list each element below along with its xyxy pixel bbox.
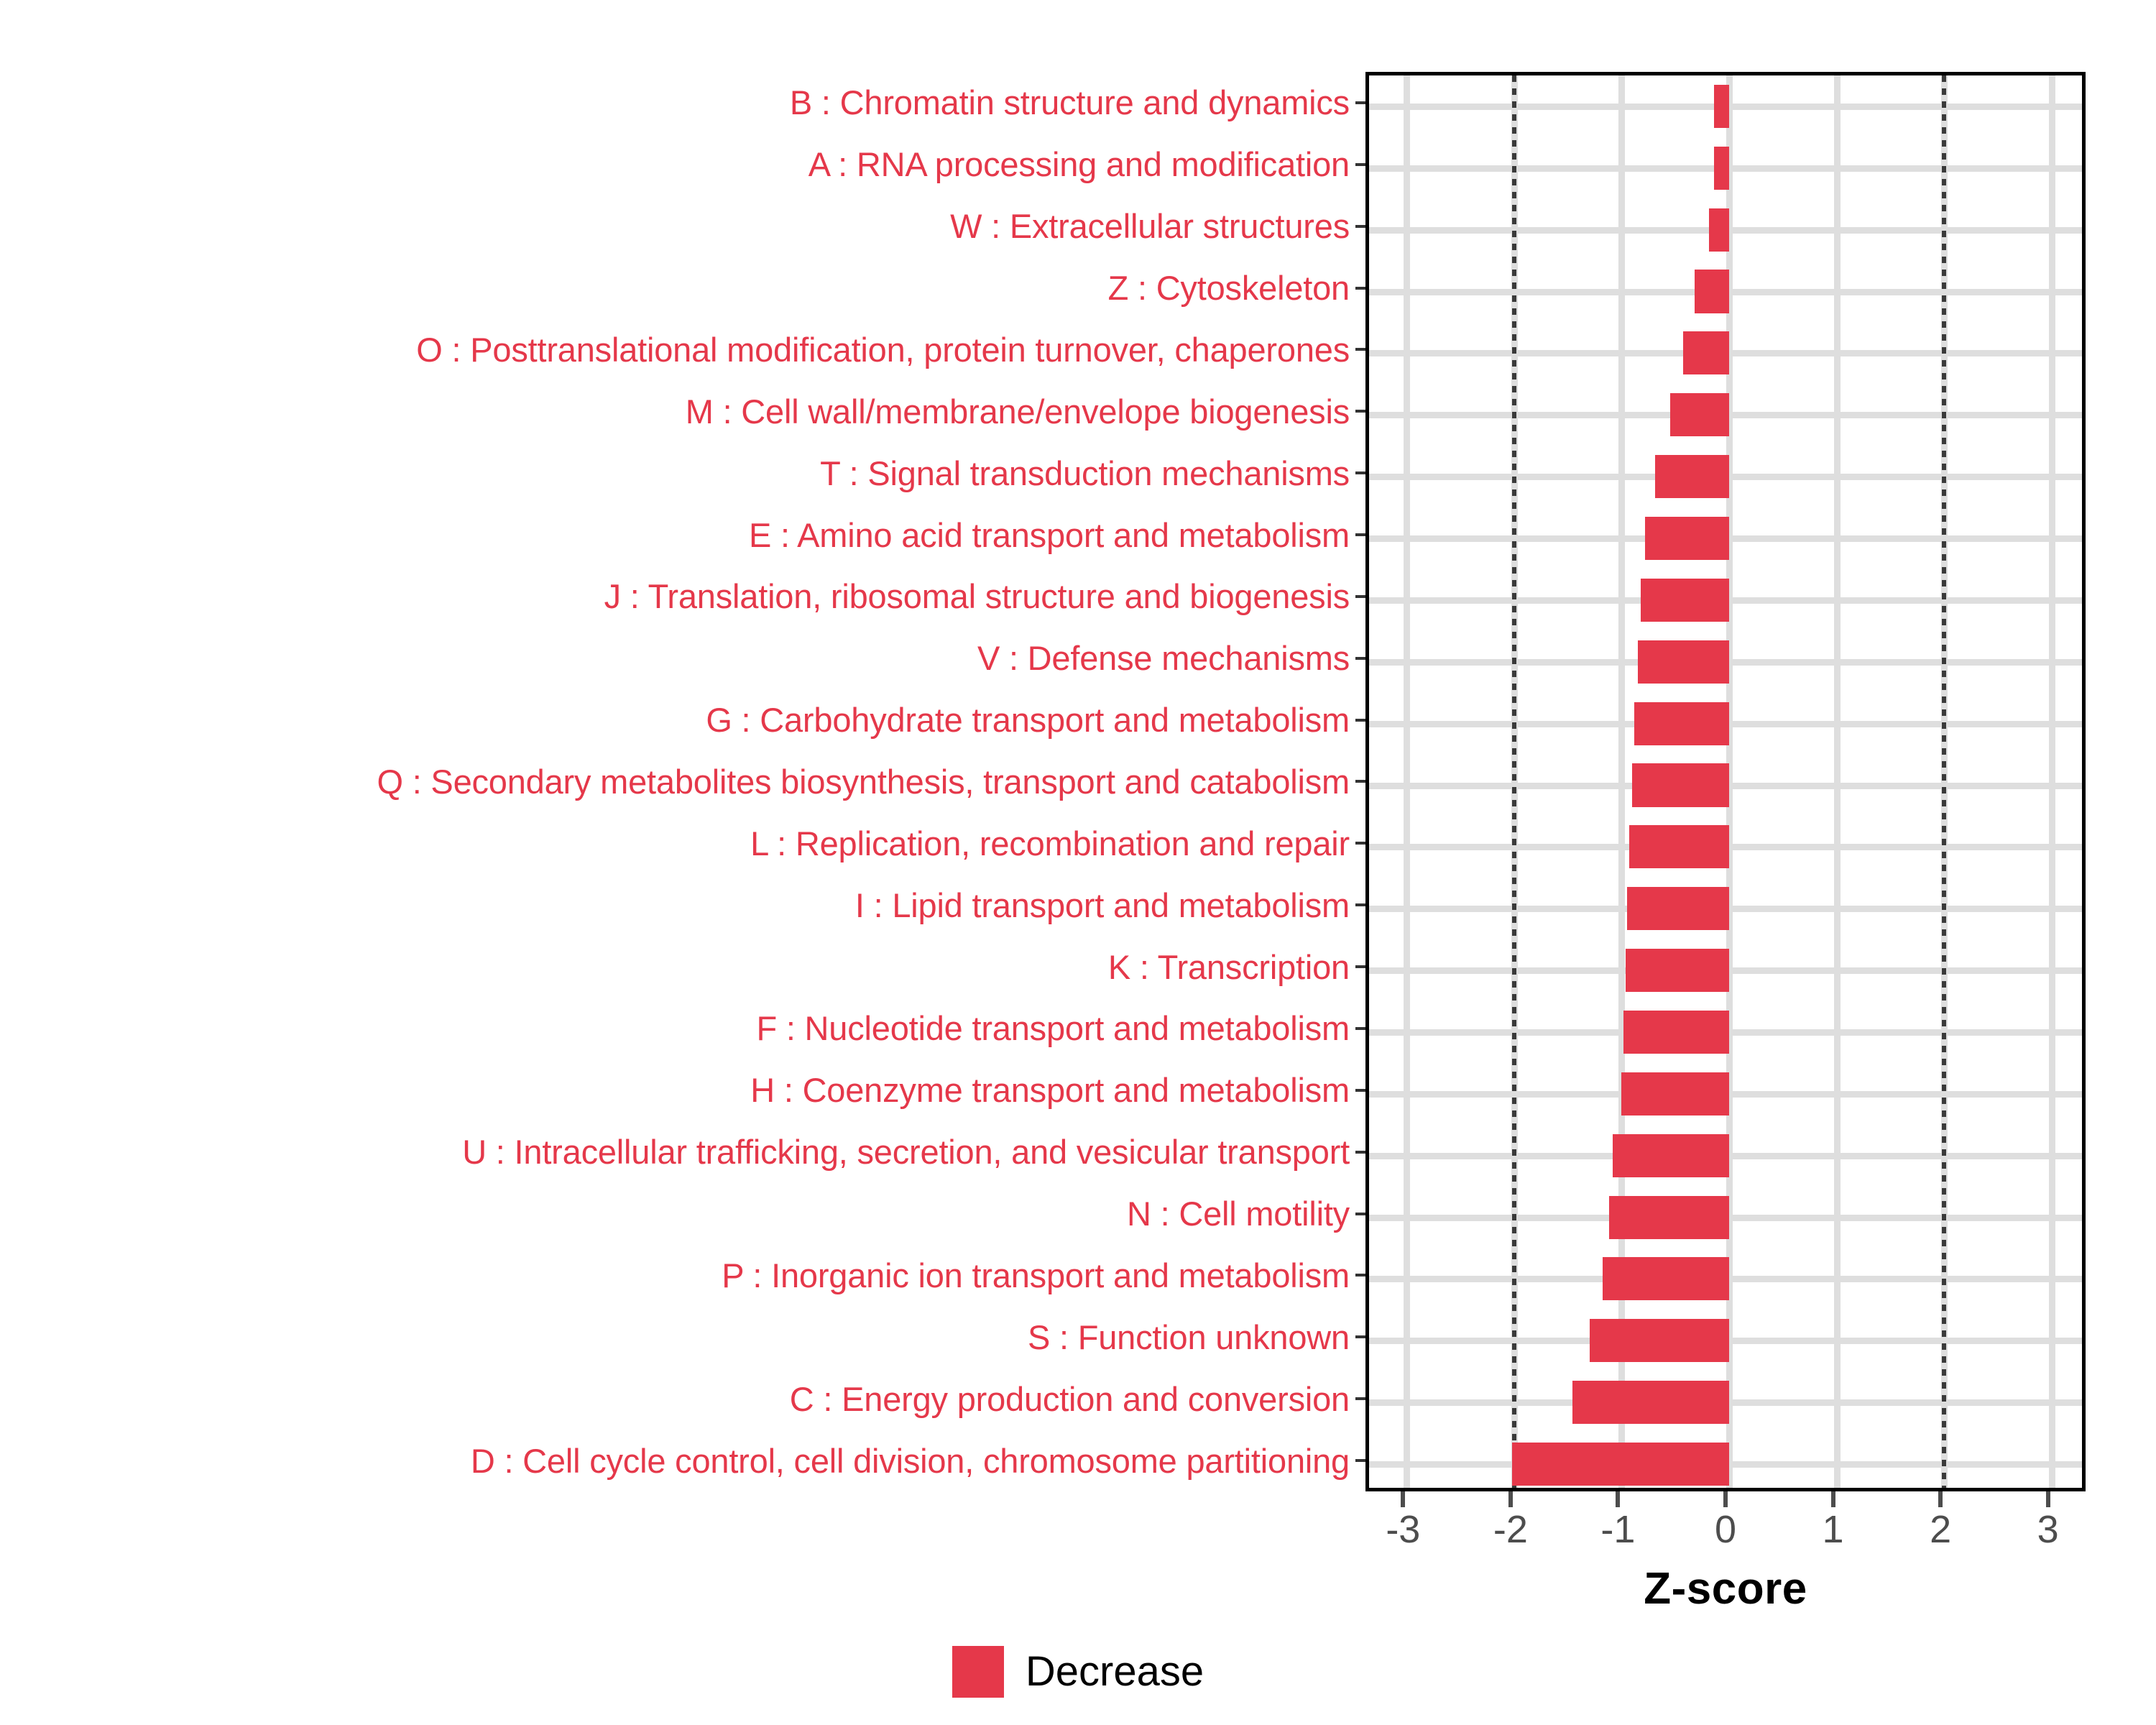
gridline-vertical: [2049, 75, 2055, 1488]
category-label-row: I : Lipid transport and metabolism: [0, 874, 1365, 936]
category-label-row: D : Cell cycle control, cell division, c…: [0, 1430, 1365, 1491]
legend: Decrease: [0, 1646, 2156, 1698]
category-label-row: V : Defense mechanisms: [0, 627, 1365, 689]
bar: [1627, 887, 1729, 930]
y-axis-tick: [1355, 1274, 1365, 1276]
bar: [1626, 949, 1729, 992]
y-axis-tick: [1355, 595, 1365, 598]
category-label-row: W : Extracellular structures: [0, 195, 1365, 257]
bar: [1623, 1011, 1729, 1054]
bar: [1645, 517, 1729, 560]
category-label: Q : Secondary metabolites biosynthesis, …: [377, 765, 1350, 799]
y-axis-tick: [1355, 965, 1365, 968]
x-axis-tick: [2046, 1491, 2050, 1507]
y-axis-tick: [1355, 719, 1365, 722]
y-axis-tick: [1355, 287, 1365, 290]
bar: [1634, 702, 1729, 745]
bar: [1641, 579, 1729, 622]
category-label: L : Replication, recombination and repai…: [750, 827, 1350, 860]
category-label: D : Cell cycle control, cell division, c…: [471, 1444, 1350, 1478]
category-label: F : Nucleotide transport and metabolism: [756, 1011, 1350, 1045]
category-label-row: B : Chromatin structure and dynamics: [0, 72, 1365, 134]
y-axis-tick: [1355, 842, 1365, 845]
category-label-row: K : Transcription: [0, 936, 1365, 998]
gridline-vertical: [1404, 75, 1410, 1488]
category-label: T : Signal transduction mechanisms: [820, 456, 1350, 490]
category-label-row: Q : Secondary metabolites biosynthesis, …: [0, 751, 1365, 813]
bar: [1709, 208, 1729, 252]
category-label-row: J : Translation, ribosomal structure and…: [0, 566, 1365, 627]
x-axis-tick: [1723, 1491, 1728, 1507]
category-label-row: G : Carbohydrate transport and metabolis…: [0, 689, 1365, 751]
category-label: E : Amino acid transport and metabolism: [749, 518, 1350, 552]
reference-line: [1512, 75, 1516, 1488]
category-label-row: M : Cell wall/membrane/envelope biogenes…: [0, 380, 1365, 442]
category-label: P : Inorganic ion transport and metaboli…: [722, 1259, 1350, 1292]
bar: [1655, 455, 1729, 498]
category-label-row: O : Posttranslational modification, prot…: [0, 318, 1365, 380]
x-axis-tick: [1616, 1491, 1620, 1507]
category-label-row: A : RNA processing and modification: [0, 134, 1365, 195]
x-axis-tick-label: 3: [2037, 1510, 2059, 1549]
bar: [1670, 393, 1729, 436]
bar: [1632, 763, 1729, 806]
bar: [1621, 1072, 1729, 1115]
plot-panel: [1365, 72, 2086, 1491]
bar: [1613, 1134, 1729, 1177]
legend-swatch-decrease: [952, 1646, 1004, 1698]
y-axis-tick: [1355, 348, 1365, 351]
category-label: N : Cell motility: [1127, 1197, 1350, 1230]
y-axis-tick: [1355, 1213, 1365, 1215]
category-label-row: N : Cell motility: [0, 1183, 1365, 1245]
y-axis-tick: [1355, 225, 1365, 228]
category-label-row: Z : Cytoskeleton: [0, 257, 1365, 319]
y-axis-tick: [1355, 903, 1365, 906]
category-label: B : Chromatin structure and dynamics: [790, 86, 1350, 119]
x-axis-tick-label: -2: [1493, 1510, 1528, 1549]
x-axis-tick: [1831, 1491, 1835, 1507]
x-axis-title: Z-score: [1365, 1563, 2086, 1614]
category-label-row: F : Nucleotide transport and metabolism: [0, 998, 1365, 1059]
legend-label-decrease: Decrease: [1026, 1651, 1204, 1693]
y-axis-tick: [1355, 471, 1365, 474]
bar: [1638, 640, 1729, 684]
category-label-row: P : Inorganic ion transport and metaboli…: [0, 1245, 1365, 1307]
y-axis-tick: [1355, 1397, 1365, 1400]
category-label: S : Function unknown: [1028, 1320, 1350, 1354]
category-label: C : Energy production and conversion: [790, 1382, 1350, 1416]
y-axis-tick: [1355, 780, 1365, 783]
bar: [1629, 825, 1729, 868]
reference-line: [1942, 75, 1946, 1488]
bar: [1572, 1381, 1729, 1424]
category-label-row: E : Amino acid transport and metabolism: [0, 504, 1365, 566]
x-axis-tick-label: -1: [1600, 1510, 1635, 1549]
bar: [1714, 85, 1729, 128]
bar: [1590, 1319, 1729, 1362]
bar: [1512, 1443, 1729, 1486]
category-label: M : Cell wall/membrane/envelope biogenes…: [686, 395, 1350, 428]
bar: [1714, 147, 1729, 190]
bar: [1695, 270, 1729, 313]
x-axis-tick: [1938, 1491, 1943, 1507]
y-axis-tick: [1355, 1151, 1365, 1154]
category-label: K : Transcription: [1108, 950, 1350, 984]
y-axis-tick: [1355, 657, 1365, 660]
x-axis-tick-label: 1: [1823, 1510, 1844, 1549]
y-axis-tick: [1355, 410, 1365, 413]
category-label-row: L : Replication, recombination and repai…: [0, 812, 1365, 874]
category-label-row: U : Intracellular trafficking, secretion…: [0, 1121, 1365, 1183]
category-label: U : Intracellular trafficking, secretion…: [462, 1135, 1350, 1169]
category-label-row: H : Coenzyme transport and metabolism: [0, 1059, 1365, 1121]
category-label-row: C : Energy production and conversion: [0, 1368, 1365, 1430]
y-axis-tick: [1355, 101, 1365, 104]
bar: [1609, 1196, 1729, 1239]
cog-zscore-bar-chart: B : Chromatin structure and dynamicsA : …: [0, 0, 2156, 1725]
x-axis-tick: [1401, 1491, 1405, 1507]
bar: [1603, 1257, 1729, 1300]
y-axis-tick: [1355, 1459, 1365, 1462]
category-label: J : Translation, ribosomal structure and…: [604, 579, 1350, 613]
plot-area: [1369, 75, 2082, 1488]
y-axis-tick: [1355, 533, 1365, 536]
category-label-row: T : Signal transduction mechanisms: [0, 442, 1365, 504]
category-label: A : RNA processing and modification: [808, 147, 1350, 181]
y-axis-tick: [1355, 1027, 1365, 1030]
y-axis-tick: [1355, 1335, 1365, 1338]
gridline-vertical: [1834, 75, 1841, 1488]
x-axis-tick: [1508, 1491, 1513, 1507]
category-label: V : Defense mechanisms: [977, 641, 1350, 675]
category-label: I : Lipid transport and metabolism: [855, 888, 1350, 922]
x-axis-tick-label: 0: [1715, 1510, 1736, 1549]
category-label: O : Posttranslational modification, prot…: [416, 333, 1350, 367]
category-label-row: S : Function unknown: [0, 1306, 1365, 1368]
category-label: Z : Cytoskeleton: [1108, 271, 1350, 305]
category-axis-labels: B : Chromatin structure and dynamicsA : …: [0, 72, 1365, 1491]
bar: [1683, 331, 1729, 374]
y-axis-tick: [1355, 163, 1365, 166]
x-axis-tick-label: 2: [1930, 1510, 1951, 1549]
x-axis-tick-label: -3: [1386, 1510, 1420, 1549]
category-label: W : Extracellular structures: [950, 209, 1350, 243]
category-label: H : Coenzyme transport and metabolism: [750, 1073, 1350, 1107]
y-axis-tick: [1355, 1089, 1365, 1092]
category-label: G : Carbohydrate transport and metabolis…: [706, 703, 1350, 737]
